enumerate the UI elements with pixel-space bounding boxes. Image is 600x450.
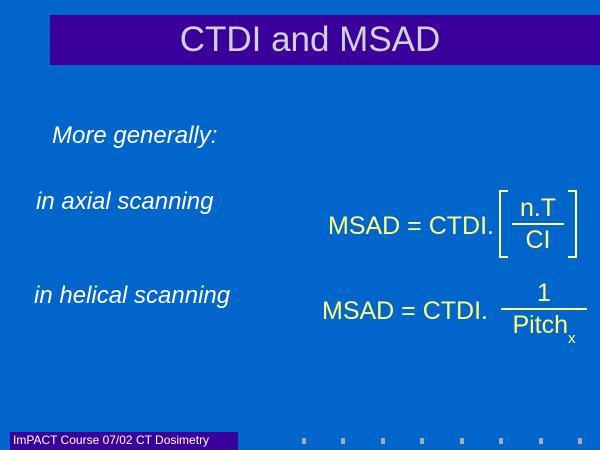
equation-axial-lhs: MSAD = CTDI. <box>328 212 494 241</box>
equation-helical: MSAD = CTDI. 1 Pitchx <box>322 280 591 343</box>
lead-in-text: More generally: <box>52 122 217 150</box>
footer-dot-row <box>280 438 600 448</box>
footer-text: ImPACT Course 07/02 CT Dosimetry <box>13 433 238 448</box>
footer-dot <box>578 438 582 444</box>
right-square-bracket-icon <box>568 190 577 258</box>
footer-dot <box>302 438 306 444</box>
footer-dot <box>341 438 345 444</box>
footer-dot <box>499 438 503 444</box>
footer-dot <box>460 438 464 444</box>
fraction-axial-denominator: CI <box>526 227 551 253</box>
fraction-helical: 1 Pitchx <box>497 280 591 343</box>
slide-canvas: CTDI and MSAD More generally: in axial s… <box>0 0 600 450</box>
label-axial-scanning: in axial scanning <box>36 188 213 216</box>
left-square-bracket-icon <box>499 190 508 258</box>
fraction-axial-bar <box>512 223 564 225</box>
equation-helical-lhs: MSAD = CTDI. <box>322 297 488 326</box>
footer-dot <box>381 438 385 444</box>
page-title: CTDI and MSAD <box>50 15 570 65</box>
fraction-helical-numerator: 1 <box>537 280 551 306</box>
fraction-helical-bar <box>501 308 587 310</box>
fraction-axial: n.T CI <box>508 190 568 258</box>
bracket-group-axial: n.T CI <box>499 190 577 258</box>
fraction-helical-denominator-subscript: x <box>568 330 576 347</box>
equation-axial: MSAD = CTDI. n.T CI <box>328 192 577 260</box>
footer-dot <box>539 438 543 444</box>
label-helical-scanning: in helical scanning <box>34 282 230 310</box>
fraction-helical-denominator-base: Pitch <box>512 311 568 339</box>
fraction-axial-numerator: n.T <box>520 195 556 221</box>
fraction-helical-denominator: Pitchx <box>512 312 575 343</box>
footer-dot <box>420 438 424 444</box>
